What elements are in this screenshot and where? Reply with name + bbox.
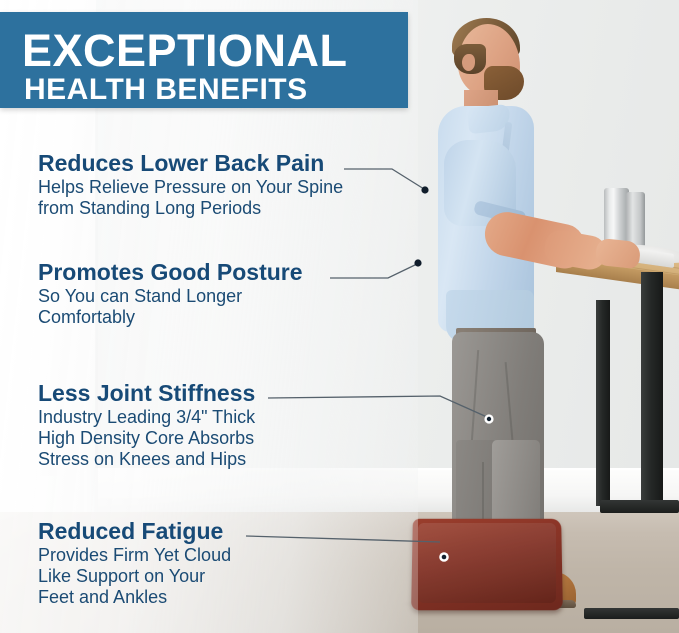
banner-title-line1: EXCEPTIONAL	[22, 28, 348, 73]
benefit-1-line-1: Helps Relieve Pressure on Your Spine	[38, 177, 343, 198]
benefit-3-title: Less Joint Stiffness	[38, 380, 255, 407]
benefit-3-line-1: Industry Leading 3/4" Thick	[38, 407, 255, 428]
benefit-block-4: Reduced Fatigue Provides Firm Yet Cloud …	[38, 518, 231, 608]
benefit-block-3: Less Joint Stiffness Industry Leading 3/…	[38, 380, 255, 470]
benefit-2-line-1: So You can Stand Longer	[38, 286, 303, 307]
benefit-3-line-3: Stress on Knees and Hips	[38, 449, 255, 470]
ear	[462, 54, 475, 71]
desk-leg-right	[641, 272, 663, 504]
benefit-3-line-2: High Density Core Absorbs	[38, 428, 255, 449]
benefit-2-title: Promotes Good Posture	[38, 259, 303, 286]
benefit-4-line-2: Like Support on Your	[38, 566, 231, 587]
benefit-block-2: Promotes Good Posture So You can Stand L…	[38, 259, 303, 328]
infographic-canvas: EXCEPTIONAL HEALTH BENEFITS Reduces Lowe…	[0, 0, 679, 633]
benefit-4-line-3: Feet and Ankles	[38, 587, 231, 608]
benefit-block-1: Reduces Lower Back Pain Helps Relieve Pr…	[38, 150, 343, 219]
benefit-4-line-1: Provides Firm Yet Cloud	[38, 545, 231, 566]
benefit-1-line-2: from Standing Long Periods	[38, 198, 343, 219]
benefit-4-title: Reduced Fatigue	[38, 518, 231, 545]
banner-title-line2: HEALTH BENEFITS	[24, 75, 308, 105]
header-banner: EXCEPTIONAL HEALTH BENEFITS	[0, 12, 408, 108]
benefit-1-title: Reduces Lower Back Pain	[38, 150, 343, 177]
benefit-2-line-2: Comfortably	[38, 307, 303, 328]
mat-bevel	[418, 523, 556, 603]
